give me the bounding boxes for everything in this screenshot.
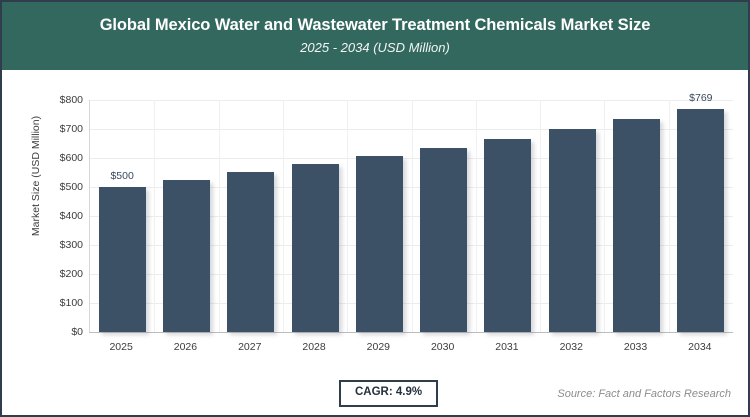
bar — [163, 180, 210, 332]
chart-card: Global Mexico Water and Wastewater Treat… — [0, 0, 750, 417]
plot-wrapper: Market Size (USD Million) $500$769 $0$10… — [2, 70, 748, 415]
bar-value-label: $769 — [661, 93, 741, 104]
bar — [677, 109, 724, 332]
vertical-gridline — [669, 100, 670, 332]
bar — [549, 129, 596, 332]
page-title: Global Mexico Water and Wastewater Treat… — [100, 16, 651, 34]
x-axis-tick-label: 2034 — [660, 342, 740, 353]
bar — [420, 148, 467, 332]
cagr-badge: CAGR: 4.9% — [339, 380, 438, 407]
vertical-gridline — [154, 100, 155, 332]
y-axis-title: Market Size (USD Million) — [30, 76, 42, 276]
bar — [99, 187, 146, 332]
bar — [356, 156, 403, 332]
bar-value-label: $500 — [82, 171, 162, 182]
vertical-gridline — [347, 100, 348, 332]
vertical-gridline — [219, 100, 220, 332]
plot-area: $500$769 — [89, 100, 733, 333]
bar — [613, 119, 660, 332]
chart-subtitle: 2025 - 2034 (USD Million) — [300, 41, 450, 55]
y-axis-tick-label: $0 — [33, 327, 83, 338]
bar — [484, 139, 531, 332]
vertical-gridline — [604, 100, 605, 332]
y-axis-tick-label: $100 — [33, 298, 83, 309]
vertical-gridline — [540, 100, 541, 332]
bar — [292, 164, 339, 332]
vertical-gridline — [412, 100, 413, 332]
chart-footer: CAGR: 4.9% Source: Fact and Factors Rese… — [2, 372, 748, 415]
chart-header: Global Mexico Water and Wastewater Treat… — [2, 2, 748, 70]
vertical-gridline — [476, 100, 477, 332]
source-note: Source: Fact and Factors Research — [557, 388, 731, 400]
vertical-gridline — [283, 100, 284, 332]
bar — [227, 172, 274, 332]
